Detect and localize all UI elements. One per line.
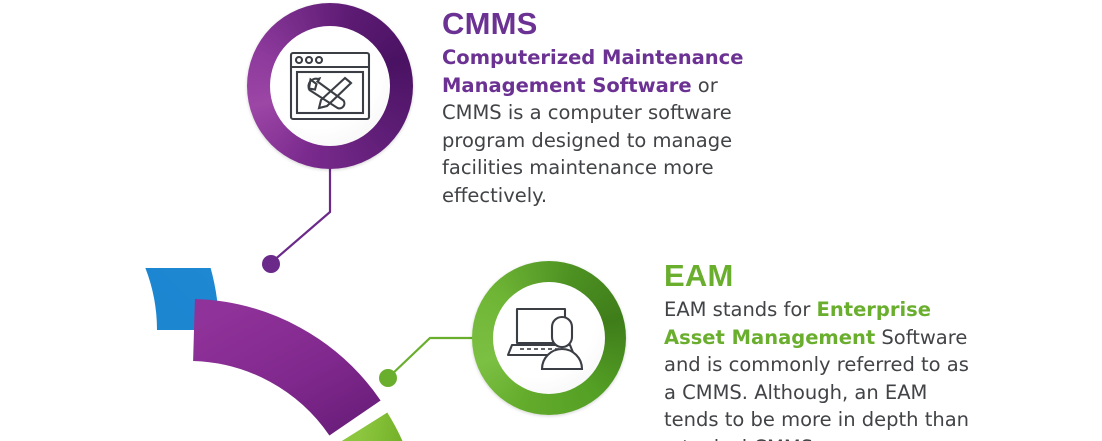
eam-body: EAM stands for Enterprise Asset Manageme… (664, 296, 984, 441)
donut-segment-blue (0, 268, 188, 441)
donut-segment-green (361, 429, 392, 441)
cmms-icon-badge[interactable] (247, 3, 413, 169)
eam-body-lead: EAM stands for (664, 298, 817, 321)
laptop-user-icon (506, 303, 592, 373)
eam-icon-plate (493, 282, 605, 394)
accruent-donut-chart: accruent (0, 268, 452, 441)
cmms-heading: CMMS (442, 6, 752, 42)
donut-svg (0, 268, 452, 441)
browser-window-tools-icon (288, 50, 372, 122)
cmms-body: Computerized Maintenance Management Soft… (442, 44, 752, 209)
eam-text-block: EAM EAM stands for Enterprise Asset Mana… (664, 258, 984, 441)
cmms-icon-plate (270, 26, 390, 146)
cmms-text-block: CMMS Computerized Maintenance Management… (442, 6, 752, 209)
infographic-canvas: accruent (0, 0, 1102, 441)
connector-line-cmms (272, 168, 330, 262)
donut-segment-purple (194, 330, 355, 418)
eam-icon-badge[interactable] (472, 261, 626, 415)
eam-heading: EAM (664, 258, 984, 294)
